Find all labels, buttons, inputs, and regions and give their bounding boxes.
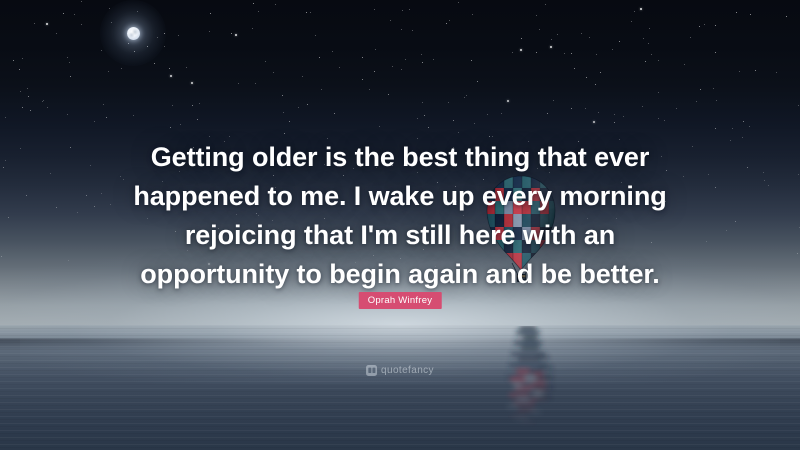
water-surface — [0, 325, 800, 450]
watermark[interactable]: quotefancy — [366, 365, 434, 376]
quote-line-2: happened to me. I wake up every morning — [0, 177, 800, 216]
quote-line-1: Getting older is the best thing that eve… — [0, 138, 800, 177]
water-ripple-texture — [0, 325, 800, 450]
author-badge[interactable]: Oprah Winfrey — [359, 292, 442, 309]
quote-text: Getting older is the best thing that eve… — [0, 138, 800, 294]
quote-poster: Getting older is the best thing that eve… — [0, 0, 800, 450]
quote-mark-icon — [366, 365, 377, 376]
quote-line-4: opportunity to begin again and be better… — [0, 255, 800, 294]
quote-line-3: rejoicing that I'm still here with an — [0, 216, 800, 255]
moon-disc-icon — [127, 27, 140, 40]
watermark-label: quotefancy — [381, 365, 434, 376]
